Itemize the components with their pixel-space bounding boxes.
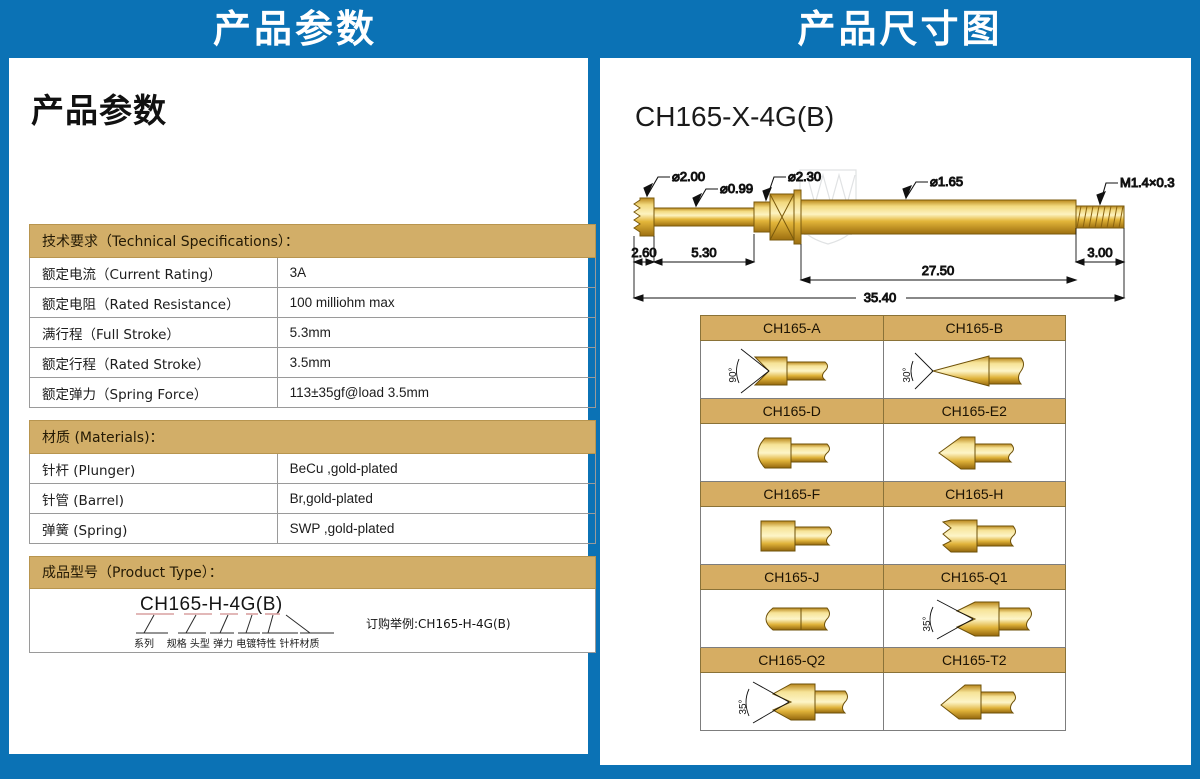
variant-header-row: CH165-D CH165-E2 (701, 399, 1066, 424)
variant-header-row: CH165-F CH165-H (701, 482, 1066, 507)
table-row: 额定电流（Current Rating） 3A (30, 258, 596, 288)
technical-specifications-table: 技术要求（Technical Specifications）： 额定电流（Cur… (29, 224, 596, 408)
pin-thread (1076, 206, 1124, 228)
dim-label-530: 5.30 (691, 245, 716, 260)
table-row: 额定电阻（Rated Resistance） 100 milliohm max (30, 288, 596, 318)
dim-label-d099: ⌀0.99 (720, 181, 753, 196)
banner-title-left: 产品参数 (0, 6, 590, 52)
variant-image-row (701, 424, 1066, 482)
product-type-body: CH165-H-4G(B) 订购举例:CH165-H-4G(B) (29, 589, 596, 653)
variant-image-row (701, 507, 1066, 565)
dim-label-300: 3.00 (1087, 245, 1112, 260)
tip-shape-bevel-icon (899, 677, 1049, 727)
variant-tip-d (701, 424, 884, 482)
technical-section-title: 技术要求（Technical Specifications）： (30, 225, 596, 258)
dim-label-thread: M1.4×0.3 (1120, 175, 1175, 190)
table-row: 弹簧 (Spring) SWP ,gold-plated (30, 514, 596, 544)
dim-label-260: 2.60 (631, 245, 656, 260)
spec-value: 3A (277, 258, 595, 288)
variant-tip-f (701, 507, 884, 565)
variant-header-row: CH165-Q2 CH165-T2 (701, 648, 1066, 673)
variant-image-row: 35° (701, 590, 1066, 648)
material-value: SWP ,gold-plated (277, 514, 595, 544)
table-row: 额定弹力（Spring Force） 113±35gf@load 3.5mm (30, 378, 596, 408)
material-key: 针杆 (Plunger) (30, 454, 278, 484)
variant-tip-a: 90° (701, 341, 884, 399)
dim-label-d200: ⌀2.00 (672, 169, 705, 184)
variant-name: CH165-T2 (883, 648, 1066, 673)
spec-value: 113±35gf@load 3.5mm (277, 378, 595, 408)
table-row: 针杆 (Plunger) BeCu ,gold-plated (30, 454, 596, 484)
spec-key: 额定弹力（Spring Force） (30, 378, 278, 408)
order-example: 订购举例:CH165-H-4G(B) (366, 615, 511, 632)
variant-image-row: 35° (701, 673, 1066, 731)
table-row: 额定行程（Rated Stroke） 3.5mm (30, 348, 596, 378)
dim-label-3540: 35.40 (864, 290, 897, 305)
product-type-leader-lines (134, 613, 364, 637)
variant-name: CH165-D (701, 399, 884, 424)
product-spec-sheet: 产品参数 产品尺寸图 产品参数 技术要求（Technical Specifica… (0, 0, 1200, 779)
legend-plating: 电镀特性 (236, 635, 276, 650)
variant-name: CH165-Q1 (883, 565, 1066, 590)
variant-tip-q1: 35° (883, 590, 1066, 648)
tip-angle-label: 90° (728, 367, 739, 382)
tip-shape-crown-3-icon: 35° (899, 594, 1049, 644)
tip-angle-label: 35° (922, 616, 933, 631)
spec-key: 额定行程（Rated Stroke） (30, 348, 278, 378)
variant-header-row: CH165-J CH165-Q1 (701, 565, 1066, 590)
table-row: 满行程（Full Stroke） 5.3mm (30, 318, 596, 348)
variant-image-row: 90° 30° (701, 341, 1066, 399)
variant-name: CH165-H (883, 482, 1066, 507)
tip-angle-label: 35° (738, 699, 749, 714)
variant-tip-e2 (883, 424, 1066, 482)
variant-header-row: CH165-A CH165-B (701, 316, 1066, 341)
variant-name: CH165-Q2 (701, 648, 884, 673)
tip-shape-sharp-30-icon: 30° (899, 345, 1049, 395)
variant-tip-j (701, 590, 884, 648)
variant-name: CH165-J (701, 565, 884, 590)
material-key: 针管 (Barrel) (30, 484, 278, 514)
tip-angle-label: 30° (902, 367, 913, 382)
banner-title-right: 产品尺寸图 (600, 6, 1200, 52)
tip-shape-chisel-90-icon: 90° (717, 345, 867, 395)
product-type-section-title: 成品型号（Product Type）： (29, 556, 596, 589)
spec-value: 5.3mm (277, 318, 595, 348)
materials-table: 材质 (Materials)： 针杆 (Plunger) BeCu ,gold-… (29, 420, 596, 544)
page-title: 产品参数 (31, 84, 167, 132)
tip-shape-flat-icon (717, 511, 867, 561)
tip-shape-round-dome-icon (717, 428, 867, 478)
variant-tip-b: 30° (883, 341, 1066, 399)
legend-series: 系列 (134, 635, 154, 650)
material-key: 弹簧 (Spring) (30, 514, 278, 544)
variant-name: CH165-B (883, 316, 1066, 341)
legend-head: 头型 (190, 635, 210, 650)
dim-label-d230: ⌀2.30 (788, 169, 821, 184)
variant-name: CH165-E2 (883, 399, 1066, 424)
table-section-header: 技术要求（Technical Specifications）： (30, 225, 596, 258)
frame-rail-middle (588, 58, 600, 765)
pin-crown-tip (634, 198, 654, 236)
spec-value: 3.5mm (277, 348, 595, 378)
legend-force: 弹力 (213, 635, 233, 650)
variant-tip-q2: 35° (701, 673, 884, 731)
spec-key: 满行程（Full Stroke） (30, 318, 278, 348)
variant-tip-h (883, 507, 1066, 565)
pin-plunger-rod (654, 208, 754, 226)
dim-label-d165: ⌀1.65 (930, 174, 963, 189)
dimension-drawing: ⌀2.00 ⌀0.99 ⌀2.30 ⌀1.65 M1.4×0.3 (614, 158, 1179, 308)
frame-rail-left (0, 58, 9, 758)
dim-label-2750: 27.50 (922, 263, 955, 278)
tip-shape-crown-4-icon (899, 511, 1049, 561)
tip-shape-bullet-icon (717, 594, 867, 644)
material-value: BeCu ,gold-plated (277, 454, 595, 484)
material-value: Br,gold-plated (277, 484, 595, 514)
tip-shape-crown-3b-icon: 35° (717, 677, 867, 727)
table-section-header: 材质 (Materials)： (30, 421, 596, 454)
product-type-legend: 系列 规格 头型 弹力 电镀特性 针杆材质 (134, 635, 319, 650)
table-row: 针管 (Barrel) Br,gold-plated (30, 484, 596, 514)
pin-barrel (801, 200, 1076, 234)
dimension-panel: CH165-X-4G(B) (600, 58, 1191, 765)
variant-tip-t2 (883, 673, 1066, 731)
legend-spec: 规格 (167, 635, 187, 650)
spec-value: 100 milliohm max (277, 288, 595, 318)
spec-key: 额定电流（Current Rating） (30, 258, 278, 288)
product-type-block: 成品型号（Product Type）： CH165-H-4G(B) 订购举例:C… (29, 556, 596, 653)
frame-rail-right (1191, 58, 1200, 765)
materials-section-title: 材质 (Materials)： (30, 421, 596, 454)
variant-name: CH165-A (701, 316, 884, 341)
tip-shape-cone-icon (899, 428, 1049, 478)
parameters-panel: 产品参数 技术要求（Technical Specifications）： 额定电… (9, 58, 588, 754)
model-title: CH165-X-4G(B) (635, 101, 834, 133)
spec-key: 额定电阻（Rated Resistance） (30, 288, 278, 318)
pin-barrel-crimp (754, 190, 801, 244)
variant-table: CH165-A CH165-B (700, 315, 1066, 731)
variant-name: CH165-F (701, 482, 884, 507)
legend-material: 针杆材质 (279, 635, 319, 650)
